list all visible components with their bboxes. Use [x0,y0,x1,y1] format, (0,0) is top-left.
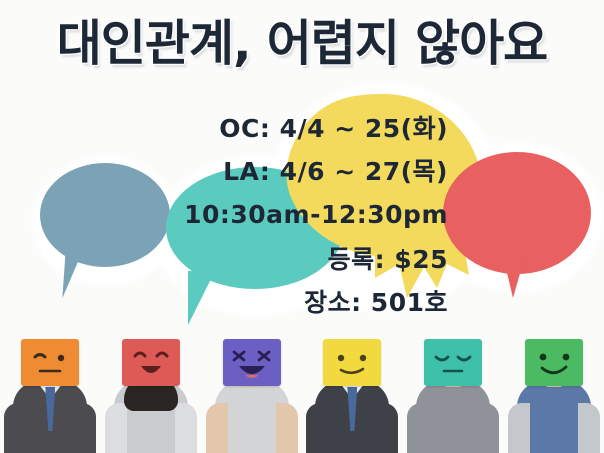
person-1-tie [45,387,55,431]
person-2-body [114,381,188,453]
poster-title: 대인관계, 어렵지 않아요 [57,4,548,75]
box-head-teal-closed-eyes-icon [424,339,482,386]
person-3 [201,331,302,453]
person-2 [101,331,202,453]
face-closed-eyes-icon [424,339,482,386]
person-1 [0,331,101,453]
info-line-fee: 등록: $25 [0,247,448,272]
info-text-block: OC: 4/4 ~ 25(화) LA: 4/6 ~ 27(목) 10:30am-… [0,116,448,315]
person-5-body [416,381,490,453]
face-neutral-icon [21,339,79,386]
person-3-body [215,381,289,453]
box-head-purple-laugh-icon [223,339,281,386]
person-6 [503,331,604,453]
face-laughing-icon [223,339,281,386]
box-head-green-smile-icon [525,339,583,386]
person-4 [302,331,403,453]
info-line-oc-dates: OC: 4/4 ~ 25(화) [0,116,448,141]
poster-canvas: 대인관계, 어렵지 않아요 OC: 4/4 ~ 25(화) LA: 4/6 ~ … [0,0,604,453]
face-smile-icon [525,339,583,386]
box-head-yellow-flat-icon [323,339,381,386]
info-line-la-dates: LA: 4/6 ~ 27(목) [0,159,448,184]
person-1-body [13,381,87,453]
info-line-room: 장소: 501호 [0,290,448,315]
person-6-body [517,381,591,453]
person-5 [403,331,504,453]
info-line-time: 10:30am-12:30pm [0,202,448,227]
face-open-smile-icon [122,339,180,386]
speech-bubble-red-tail [503,256,525,298]
face-flat-smile-icon [323,339,381,386]
person-4-tie [347,387,357,431]
box-head-orange-neutral-icon [21,339,79,386]
person-4-body [315,381,389,453]
box-head-red-smile-icon [122,339,180,386]
speech-bubble-red [443,152,591,274]
people-row [0,331,604,453]
title-band: 대인관계, 어렵지 않아요 [0,0,604,78]
